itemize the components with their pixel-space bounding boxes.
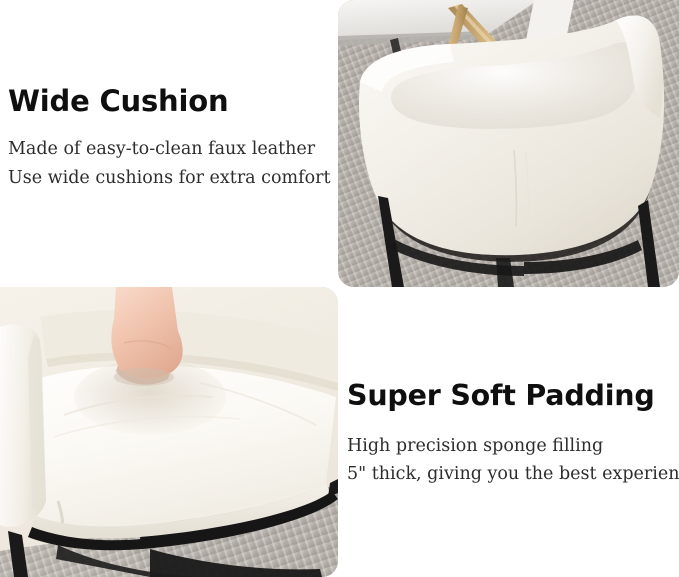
product-feature-banner: Wide Cushion Made of easy-to-clean faux … — [0, 0, 679, 577]
feature-description-line: High precision sponge filling — [347, 432, 679, 460]
chair-back-illustration — [338, 0, 679, 287]
product-photo-cushion-press — [0, 287, 338, 577]
cushion-press-illustration — [0, 287, 338, 577]
feature-block-super-soft-padding: Super Soft Padding High precision sponge… — [338, 287, 679, 577]
feature-description-super-soft-padding: High precision sponge filling 5" thick, … — [347, 432, 679, 488]
feature-description-line: Made of easy-to-clean faux leather — [8, 135, 338, 164]
feature-description-line: 5" thick, giving you the best experience — [347, 460, 679, 488]
feature-heading-wide-cushion: Wide Cushion — [8, 84, 338, 118]
feature-block-wide-cushion: Wide Cushion Made of easy-to-clean faux … — [0, 0, 338, 287]
product-photo-chair-back — [338, 0, 679, 287]
feature-heading-super-soft-padding: Super Soft Padding — [347, 379, 679, 413]
feature-description-line: Use wide cushions for extra comfort — [8, 164, 338, 193]
feature-description-wide-cushion: Made of easy-to-clean faux leather Use w… — [8, 135, 338, 193]
